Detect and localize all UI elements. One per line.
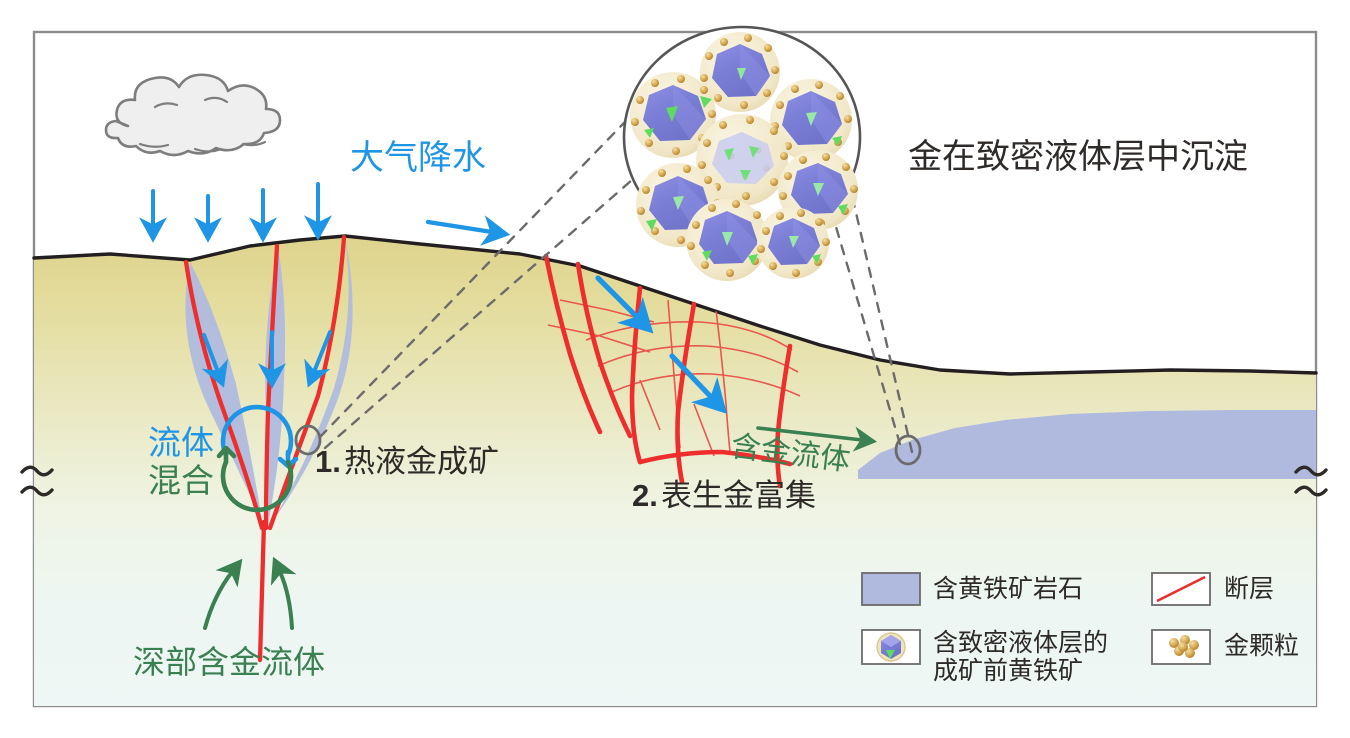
label-fluid-mixing-line1: 流体 bbox=[148, 425, 214, 462]
label-stage2-number: 2. bbox=[632, 479, 658, 514]
label-stage1-number: 1. bbox=[315, 445, 341, 480]
diagram-canvas: 大气降水 流体 混合 深部含金流体 含金流体 金在致密液体层中沉淀 1. 热液金… bbox=[0, 0, 1350, 738]
label-fluid-mixing-line2: 混合 bbox=[148, 463, 214, 500]
label-stage2-text: 表生金富集 bbox=[661, 479, 816, 514]
legend-label-fault: 断层 bbox=[1224, 575, 1274, 603]
label-inset-caption: 金在致密液体层中沉淀 bbox=[908, 138, 1248, 176]
label-meteoric-water: 大气降水 bbox=[350, 139, 486, 177]
label-deep-gold-fluid: 深部含金流体 bbox=[133, 645, 325, 681]
legend-icon-pyrite-rock bbox=[862, 573, 920, 605]
cross-section-svg bbox=[0, 0, 1350, 738]
legend-label-pyrite-rock: 含黄铁矿岩石 bbox=[933, 575, 1083, 603]
legend-label-pre-ore-pyrite-line1: 含致密液体层的 bbox=[933, 629, 1108, 657]
label-stage1-text: 热液金成矿 bbox=[344, 445, 499, 480]
legend-label-pre-ore-pyrite-line2: 成矿前黄铁矿 bbox=[933, 657, 1083, 685]
legend-label-gold-particle: 金颗粒 bbox=[1224, 632, 1299, 660]
